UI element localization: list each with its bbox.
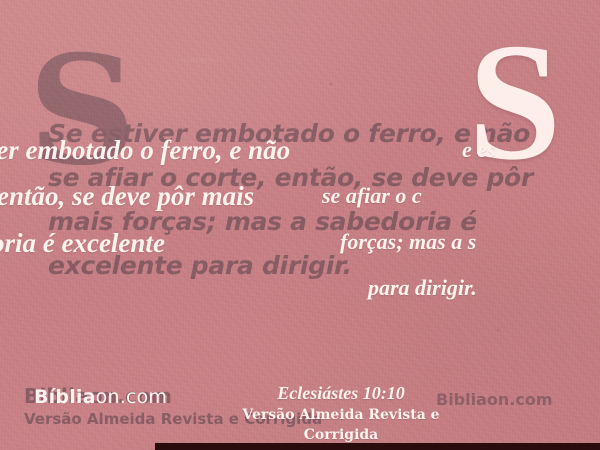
- logo-bold-part: Bíblia: [34, 386, 96, 408]
- verse-line-right-2: se afiar o c: [322, 172, 422, 220]
- verse-dropcap: S: [468, 18, 561, 186]
- logo-thin-part: on.com: [96, 386, 168, 408]
- verse-line-right-4: para dirigir.: [368, 264, 477, 312]
- bottom-accent-bar: [155, 443, 600, 450]
- ghost-quote-text: Se estiver embotado o ferro, e não se af…: [48, 112, 568, 288]
- verse-line-left-3: sabedoria é excelente: [0, 219, 165, 267]
- verse-reference: Eclesiástes 10:10: [206, 382, 476, 404]
- verse-reference-block: Eclesiástes 10:10 Versão Almeida Revista…: [206, 382, 476, 445]
- ghost-dropcap: S: [28, 36, 136, 186]
- verse-line-right-3: forças; mas a s: [340, 218, 476, 266]
- bibliaon-logo[interactable]: Bíbliaon.com: [34, 386, 167, 408]
- verse-translation: Versão Almeida Revista e Corrigida: [206, 405, 476, 445]
- verse-line-right-1: e es: [462, 126, 496, 174]
- verse-image-canvas: S Se estiver embotado o ferro, e não se …: [0, 0, 600, 450]
- verse-line-left-1: e estiver embotado o ferro, e não: [0, 126, 290, 174]
- verse-line-left-2: corte, então, se deve pôr mais: [0, 172, 254, 220]
